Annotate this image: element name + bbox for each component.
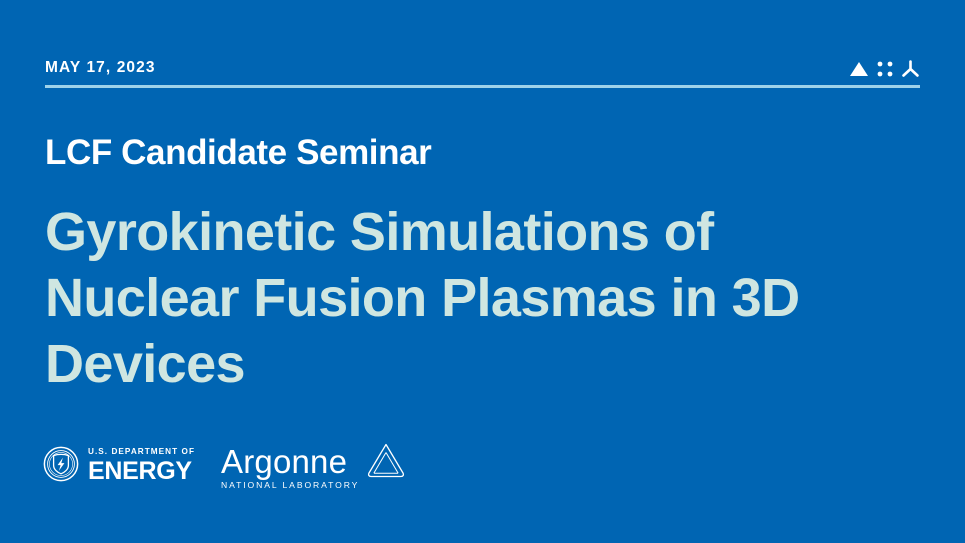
title-line-2: Nuclear Fusion Plasmas in 3D (45, 265, 875, 331)
page-title: Gyrokinetic Simulations of Nuclear Fusio… (45, 199, 875, 397)
seminar-eyebrow-title: LCF Candidate Seminar (45, 131, 431, 175)
doe-energy-name: ENERGY (88, 459, 195, 484)
doe-wordmark: U.S. DEPARTMENT OF ENERGY (88, 448, 195, 483)
title-line-1: Gyrokinetic Simulations of (45, 199, 875, 265)
tripod-atom-icon (901, 60, 920, 78)
date-label: MAY 17, 2023 (45, 58, 156, 78)
title-slide: MAY 17, 2023 (0, 0, 965, 543)
header-divider-rule (45, 85, 920, 88)
logo-row: U.S. DEPARTMENT OF ENERGY Argonne NATION… (43, 438, 407, 494)
argonne-logo: Argonne NATIONAL LABORATORY (221, 441, 407, 492)
doe-department-line: U.S. DEPARTMENT OF (88, 448, 195, 456)
argonne-wordmark: Argonne NATIONAL LABORATORY (221, 445, 359, 490)
title-line-3: Devices (45, 331, 875, 397)
header-icon-cluster (849, 57, 920, 81)
doe-logo: U.S. DEPARTMENT OF ENERGY (43, 446, 195, 487)
argonne-subtitle: NATIONAL LABORATORY (221, 481, 359, 490)
doe-seal-icon (43, 446, 79, 487)
four-dots-icon (876, 60, 894, 78)
triangle-mountain-icon (849, 61, 869, 77)
argonne-triangle-icon (365, 441, 407, 479)
argonne-name: Argonne (221, 445, 359, 479)
slide-header: MAY 17, 2023 (45, 58, 920, 94)
